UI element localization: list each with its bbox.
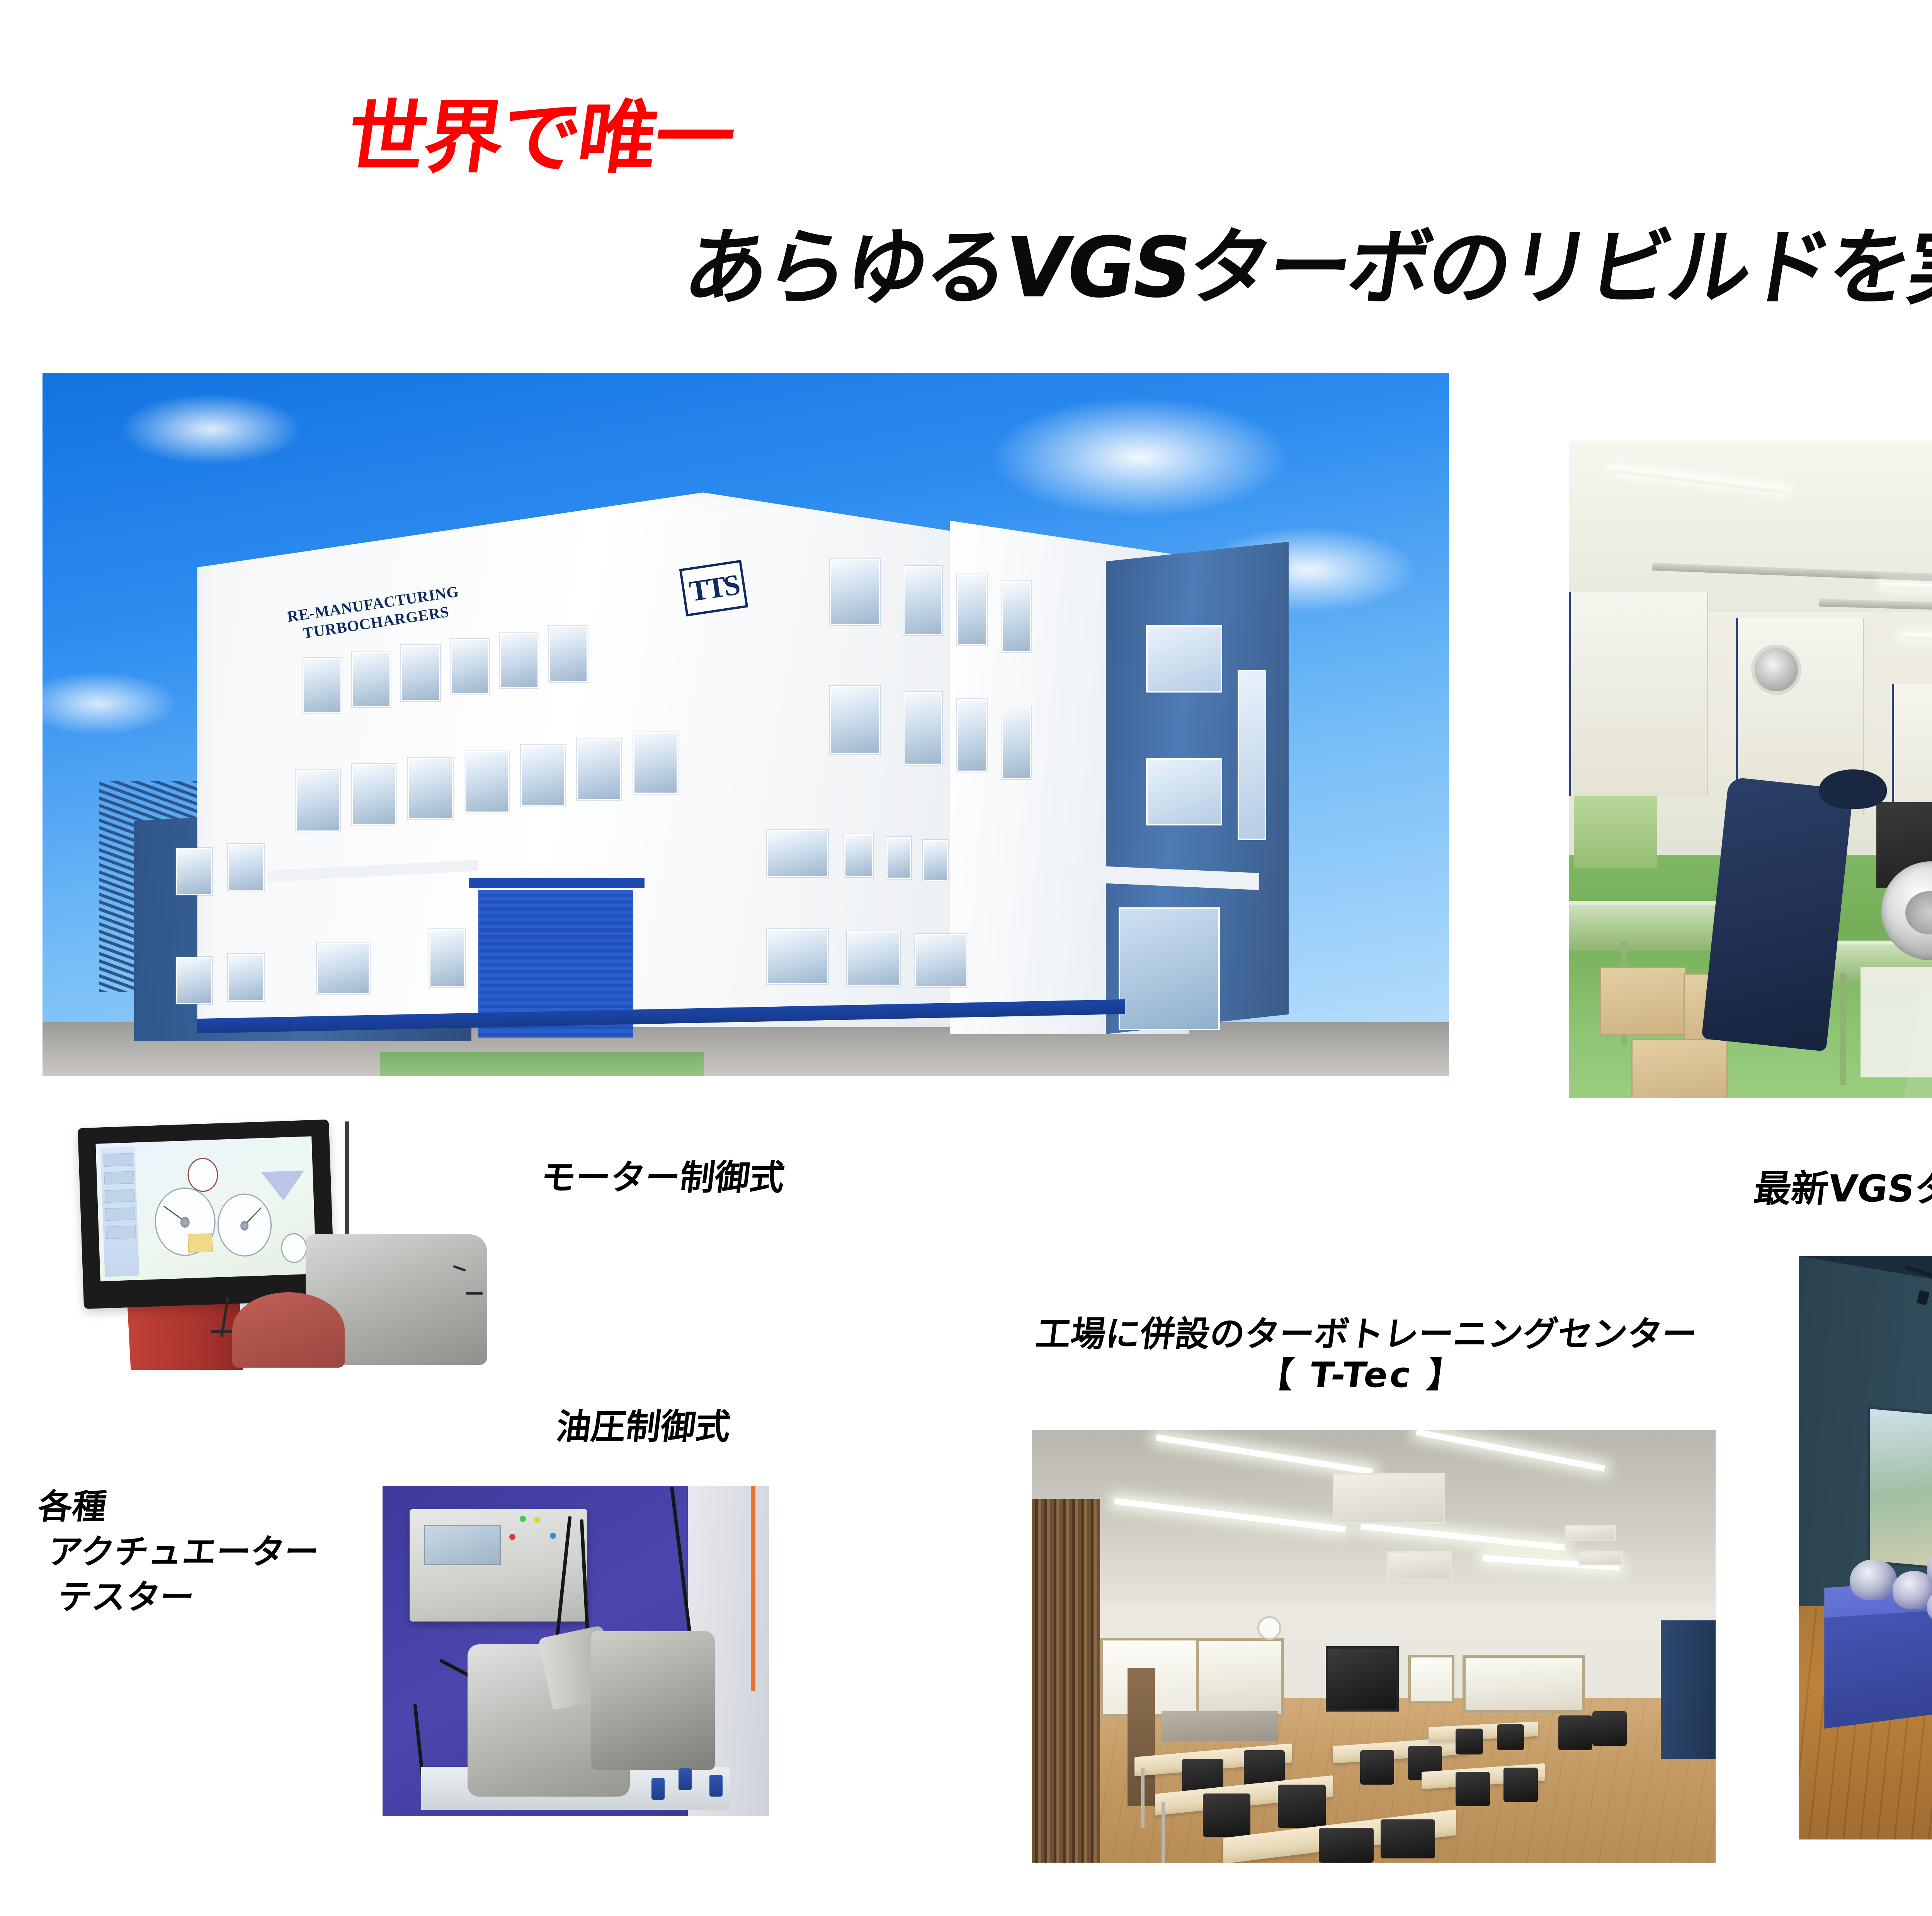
headline-black: あらゆるVGSターボのリビルドを実現 xyxy=(679,226,1932,309)
facade-window xyxy=(844,834,873,878)
classroom-chair[interactable] xyxy=(1456,1729,1483,1754)
tool-pegboard xyxy=(1574,796,1657,868)
wall-poster-bus xyxy=(1867,1406,1932,1578)
facade-window xyxy=(957,574,987,645)
orange-conduit xyxy=(751,1486,755,1691)
annex-window xyxy=(429,929,465,987)
display-turbo xyxy=(1893,1571,1932,1609)
stop-button[interactable] xyxy=(187,1233,213,1252)
caption-training-line1: 工場に併設のターボトレーニングセンター xyxy=(1034,1314,1699,1354)
photo-assembly-area xyxy=(1569,441,1932,1098)
facade-window xyxy=(903,566,942,636)
whiteboard-small xyxy=(1408,1655,1454,1703)
facade-window xyxy=(830,686,880,754)
tts-logo: TTS xyxy=(679,560,748,617)
hydraulic-valve xyxy=(679,1768,692,1790)
wall-clock xyxy=(1257,1616,1281,1640)
vane-angle-indicator xyxy=(260,1164,305,1201)
table-leg xyxy=(1141,1768,1145,1828)
facade-window xyxy=(886,837,911,879)
turbo-turbine-housing xyxy=(591,1631,715,1770)
facade-window xyxy=(633,732,678,794)
hydraulic-valve xyxy=(709,1775,723,1797)
facade-window xyxy=(767,830,828,877)
stacked-chairs[interactable] xyxy=(1592,1711,1627,1746)
display-counter xyxy=(1162,1711,1278,1741)
classroom-chair[interactable] xyxy=(1503,1768,1538,1802)
status-led-yellow xyxy=(534,1517,540,1523)
parts-cart xyxy=(1861,967,1932,1077)
gauge-hub xyxy=(180,1217,190,1228)
worker-cap xyxy=(1819,769,1887,809)
photo-hydraulic-controlled-tester xyxy=(383,1486,769,1816)
tester-screen xyxy=(96,1136,316,1281)
caption-training-center: 工場に併設のターボトレーニングセンター 【 T-Tec 】 xyxy=(992,1314,1736,1396)
tower-window xyxy=(1146,758,1222,825)
wall-mounted-tv xyxy=(1326,1646,1399,1712)
status-led-blue xyxy=(550,1533,556,1539)
monitor-cable xyxy=(211,1330,232,1333)
tester-monitor xyxy=(78,1120,335,1309)
caption-training-line2: 【 T-Tec 】 xyxy=(992,1355,1731,1396)
classroom-chair[interactable] xyxy=(1497,1724,1524,1750)
ceiling-vent xyxy=(1579,1551,1623,1565)
screen-sidebar xyxy=(100,1147,139,1277)
roll-down-shutter xyxy=(1569,592,1708,796)
wall-fan xyxy=(1751,645,1801,695)
classroom-chair[interactable] xyxy=(1360,1750,1395,1785)
annex-window xyxy=(317,943,370,994)
hydraulic-valve xyxy=(651,1778,665,1800)
facade-window xyxy=(1002,581,1031,652)
classroom-window xyxy=(1196,1638,1284,1717)
ceiling-air-conditioner xyxy=(1333,1473,1445,1524)
classroom-chair[interactable] xyxy=(1381,1819,1435,1858)
stacked-chairs[interactable] xyxy=(1558,1715,1593,1750)
photo-motor-controlled-tester xyxy=(68,1119,500,1370)
annex-window xyxy=(228,844,264,891)
annex-window xyxy=(228,954,264,1001)
facade-window xyxy=(451,639,490,694)
headline-red: 世界で唯一 xyxy=(342,99,738,178)
screen-nav-button[interactable] xyxy=(103,1153,133,1167)
tts-logo-text: TTS xyxy=(687,568,740,609)
facade-window xyxy=(923,840,948,881)
cardboard-box xyxy=(1600,967,1686,1035)
facade-window xyxy=(500,633,539,688)
classroom-chair[interactable] xyxy=(1456,1772,1490,1807)
table-leg xyxy=(1162,1802,1165,1863)
ceiling-vent xyxy=(1565,1525,1616,1541)
facade-window xyxy=(464,751,509,813)
gauge-inlet-pressure xyxy=(187,1157,219,1192)
caption-actuator-line1: 各種 xyxy=(36,1484,358,1529)
screen-nav-button[interactable] xyxy=(105,1225,136,1239)
screen-nav-button[interactable] xyxy=(104,1189,134,1203)
tower-window-narrow xyxy=(1238,670,1266,840)
main-entrance-door xyxy=(1119,907,1220,1030)
folding-partition-door[interactable] xyxy=(1032,1499,1100,1863)
screen-nav-button[interactable] xyxy=(105,1207,135,1221)
display-turbo xyxy=(1850,1559,1897,1600)
blue-cabinet xyxy=(1661,1620,1716,1759)
annex-window xyxy=(176,848,212,895)
photo-headquarters-building: RE-MANUFACTURING TURBOCHARGERS TTS xyxy=(43,373,1449,1076)
facade-window xyxy=(957,699,987,772)
classroom-chair[interactable] xyxy=(1278,1785,1326,1828)
classroom-chair[interactable] xyxy=(1203,1793,1251,1837)
workshop-ceiling xyxy=(1569,441,1932,612)
gauge-small xyxy=(280,1233,307,1263)
facade-window xyxy=(577,738,621,800)
cardboard-box xyxy=(1631,1039,1728,1098)
caption-actuator-tester: 各種 アクチュエーター テスター xyxy=(24,1484,358,1620)
caption-actuator-line2: アクチュエーター xyxy=(30,1529,352,1574)
status-led-red xyxy=(509,1534,515,1540)
shutter-header xyxy=(469,878,645,888)
gauge-turbine-pressure xyxy=(216,1193,273,1257)
caption-showroom: 最新VGSターボが飾られた展示ルーム xyxy=(1752,1167,1932,1211)
photo-showroom: Garrett HOLSET POWER xyxy=(1799,1256,1932,1839)
caption-motor-controlled: モーター制御式 xyxy=(538,1157,787,1198)
facade-window xyxy=(352,764,396,825)
bench-leg xyxy=(1840,973,1846,1085)
gauge-hub xyxy=(240,1221,248,1231)
photo-training-center xyxy=(1032,1430,1716,1863)
classroom-window xyxy=(1463,1655,1585,1713)
ceiling-air-conditioner xyxy=(1387,1551,1452,1580)
caption-hydraulic-controlled: 油圧制御式 xyxy=(554,1407,733,1448)
caption-actuator-line3: テスター xyxy=(24,1574,347,1620)
facade-window xyxy=(915,934,968,987)
classroom-chair[interactable] xyxy=(1319,1828,1374,1863)
facade-window xyxy=(408,758,452,819)
annex-window xyxy=(176,957,212,1004)
control-unit-display xyxy=(424,1525,501,1565)
screen-nav-button[interactable] xyxy=(104,1171,134,1185)
slide-canvas: 世界で唯一 あらゆるVGSターボのリビルドを実現 xyxy=(0,0,1932,1916)
facade-window xyxy=(830,559,880,625)
status-led-green xyxy=(520,1516,526,1522)
turbo-red-housing xyxy=(232,1292,345,1368)
facade-window xyxy=(847,931,900,986)
facade-window xyxy=(521,745,565,807)
facade-window xyxy=(903,692,942,765)
sensor-wire xyxy=(466,1292,483,1295)
tower-window xyxy=(1146,625,1222,693)
facade-window xyxy=(549,626,588,682)
facade-window xyxy=(1002,706,1031,779)
ground-green-patch xyxy=(380,1052,704,1076)
facade-window xyxy=(296,770,340,832)
facade-window xyxy=(767,929,828,984)
